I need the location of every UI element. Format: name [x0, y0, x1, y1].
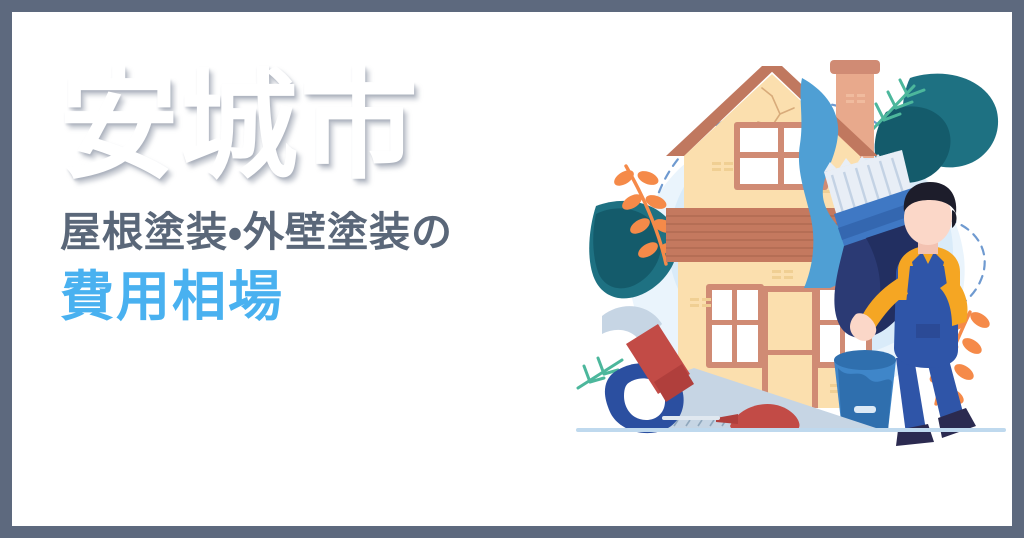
- page-accent-text: 費用相場: [60, 267, 620, 326]
- banner-frame: 安城市 屋根塗装・外壁塗装の 費用相場: [0, 0, 1024, 538]
- front-door: [762, 286, 818, 408]
- lower-window-left: [706, 284, 764, 368]
- heading-block: 安城市 屋根塗装・外壁塗装の 費用相場: [60, 66, 620, 326]
- house-painting-illustration: [566, 38, 1012, 484]
- page-subtitle: 屋根塗装・外壁塗装の: [60, 208, 620, 256]
- page-title: 安城市: [60, 66, 620, 186]
- banner-canvas: 安城市 屋根塗装・外壁塗装の 費用相場: [12, 12, 1012, 526]
